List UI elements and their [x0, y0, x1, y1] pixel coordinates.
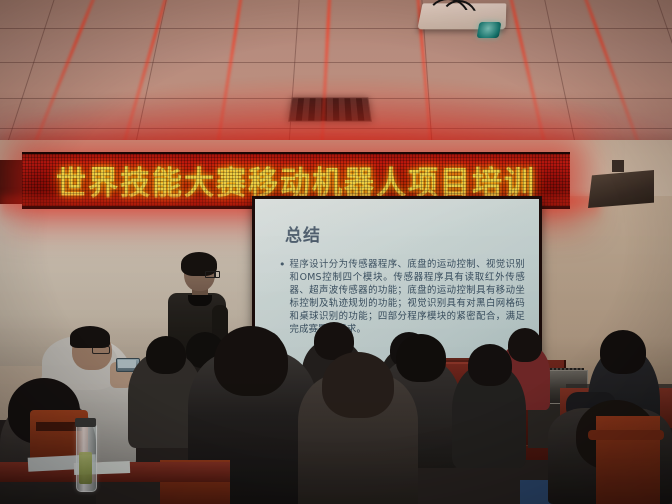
- phone-screen: [118, 360, 136, 368]
- tea-leaves: [79, 452, 92, 484]
- tumbler-cap: [75, 418, 96, 427]
- photo-scene: 世界技能大赛移动机器人项目培训 总结 • 程序设计分为传感器程序、底盘的运动控制…: [0, 0, 672, 504]
- ceiling-red-glow: [0, 52, 672, 152]
- slide-title: 总结: [285, 221, 525, 246]
- audience-hair: [70, 326, 110, 348]
- audience-head: [146, 336, 186, 374]
- wall-speaker-icon: [588, 170, 654, 208]
- chair-armrest: [588, 430, 664, 440]
- audience-head: [214, 326, 288, 396]
- audience-head: [508, 328, 542, 362]
- audience-head: [322, 352, 394, 418]
- ceiling: [0, 0, 672, 152]
- audience-head: [396, 334, 446, 382]
- bullet-marker: •: [279, 258, 286, 337]
- slide-bullet-item: • 程序设计分为传感器程序、底盘的运动控制、视觉识别和OMS控制四个模块。传感器…: [279, 258, 525, 337]
- projector-icon: [420, 2, 506, 38]
- audience-head: [468, 344, 512, 386]
- speaker-bracket: [612, 160, 624, 172]
- audience-head: [600, 330, 646, 374]
- glasses-icon: [214, 271, 220, 278]
- projector-lens: [477, 22, 502, 38]
